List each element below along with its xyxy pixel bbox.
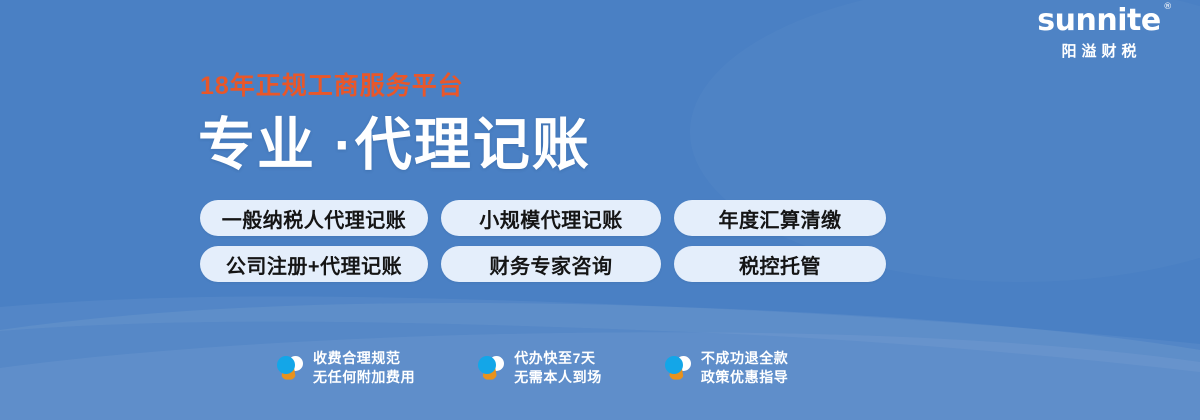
promo-banner: sunnite ® 阳溢财税 18年正规工商服务平台 专业 ·代理记账 一般纳税… — [0, 0, 1200, 420]
feature-text-2: 代办快至7天 无需本人到场 — [514, 350, 602, 385]
feature-line-1: 收费合理规范 — [313, 350, 415, 366]
feature-line-1: 不成功退全款 — [701, 350, 789, 366]
feature-text-1: 收费合理规范 无任何附加费用 — [313, 350, 415, 385]
moon-circle-icon — [276, 353, 304, 383]
feature-item-3: 不成功退全款 政策优惠指导 — [664, 350, 789, 385]
page-title: 专业 ·代理记账 — [198, 114, 591, 177]
service-pill-5[interactable]: 财务专家咨询 — [441, 246, 661, 282]
feature-line-2: 政策优惠指导 — [701, 369, 789, 385]
moon-circle-icon — [664, 353, 692, 383]
logo-chinese-name: 阳溢财税 — [1016, 44, 1182, 59]
hero-kicker: 18年正规工商服务平台 — [200, 74, 464, 99]
feature-line-1: 代办快至7天 — [514, 350, 602, 366]
service-pill-1[interactable]: 一般纳税人代理记账 — [200, 200, 428, 236]
feature-line-2: 无需本人到场 — [514, 369, 602, 385]
logo-wordmark: sunnite ® — [1037, 6, 1160, 36]
feature-item-1: 收费合理规范 无任何附加费用 — [276, 350, 415, 385]
registered-trademark-icon: ® — [1163, 3, 1172, 12]
feature-text-3: 不成功退全款 政策优惠指导 — [701, 350, 789, 385]
feature-item-2: 代办快至7天 无需本人到场 — [477, 350, 602, 385]
feature-list: 收费合理规范 无任何附加费用 代办快至7天 无需本人到场 不成功退全款 — [276, 350, 788, 385]
service-pill-3[interactable]: 年度汇算清缴 — [674, 200, 886, 236]
service-pill-6[interactable]: 税控托管 — [674, 246, 886, 282]
logo-wordmark-text: sunnite — [1037, 3, 1160, 38]
brand-logo[interactable]: sunnite ® 阳溢财税 — [1016, 6, 1182, 59]
service-pill-grid: 一般纳税人代理记账 小规模代理记账 年度汇算清缴 公司注册+代理记账 财务专家咨… — [200, 200, 886, 282]
feature-line-2: 无任何附加费用 — [313, 369, 415, 385]
service-pill-2[interactable]: 小规模代理记账 — [441, 200, 661, 236]
moon-circle-icon — [477, 353, 505, 383]
service-pill-4[interactable]: 公司注册+代理记账 — [200, 246, 428, 282]
